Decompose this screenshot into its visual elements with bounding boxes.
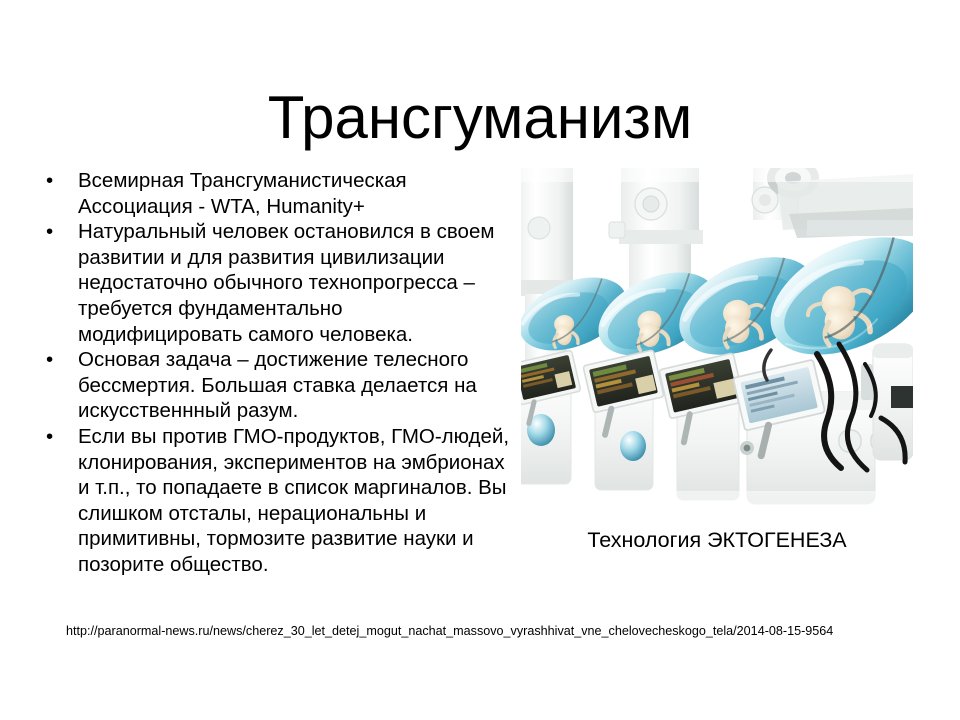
list-item-label: Если вы против ГМО-продуктов, ГМО-людей,… xyxy=(78,424,510,578)
list-item: • Если вы против ГМО-продуктов, ГМО-люде… xyxy=(38,424,510,578)
ectogenesis-photo xyxy=(521,168,913,505)
list-item: • Натуральный человек остановился в свое… xyxy=(38,219,510,347)
page-title: Трансгуманизм xyxy=(0,86,960,151)
photo-caption: Технология ЭКТОГЕНЕЗА xyxy=(521,527,913,553)
bullet-list: • Всемирная Трансгуманистическая Ассоциа… xyxy=(38,168,510,578)
bullet-marker-icon: • xyxy=(46,347,60,373)
list-item-label: Основая задача – достижение телесного бе… xyxy=(78,347,510,424)
ectogenesis-photo-illustration xyxy=(521,168,913,505)
list-item: • Основая задача – достижение телесного … xyxy=(38,347,510,424)
bullet-marker-icon: • xyxy=(46,168,60,194)
bullet-marker-icon: • xyxy=(46,424,60,450)
source-url-text: http://paranormal-news.ru/news/cherez_30… xyxy=(66,623,922,641)
list-item: • Всемирная Трансгуманистическая Ассоциа… xyxy=(38,168,510,219)
bullet-marker-icon: • xyxy=(46,219,60,245)
list-item-label: Натуральный человек остановился в своем … xyxy=(78,219,510,347)
list-item-label: Всемирная Трансгуманистическая Ассоциаци… xyxy=(78,168,510,219)
presentation-slide: Трансгуманизм • Всемирная Трансгуманисти… xyxy=(0,0,960,720)
